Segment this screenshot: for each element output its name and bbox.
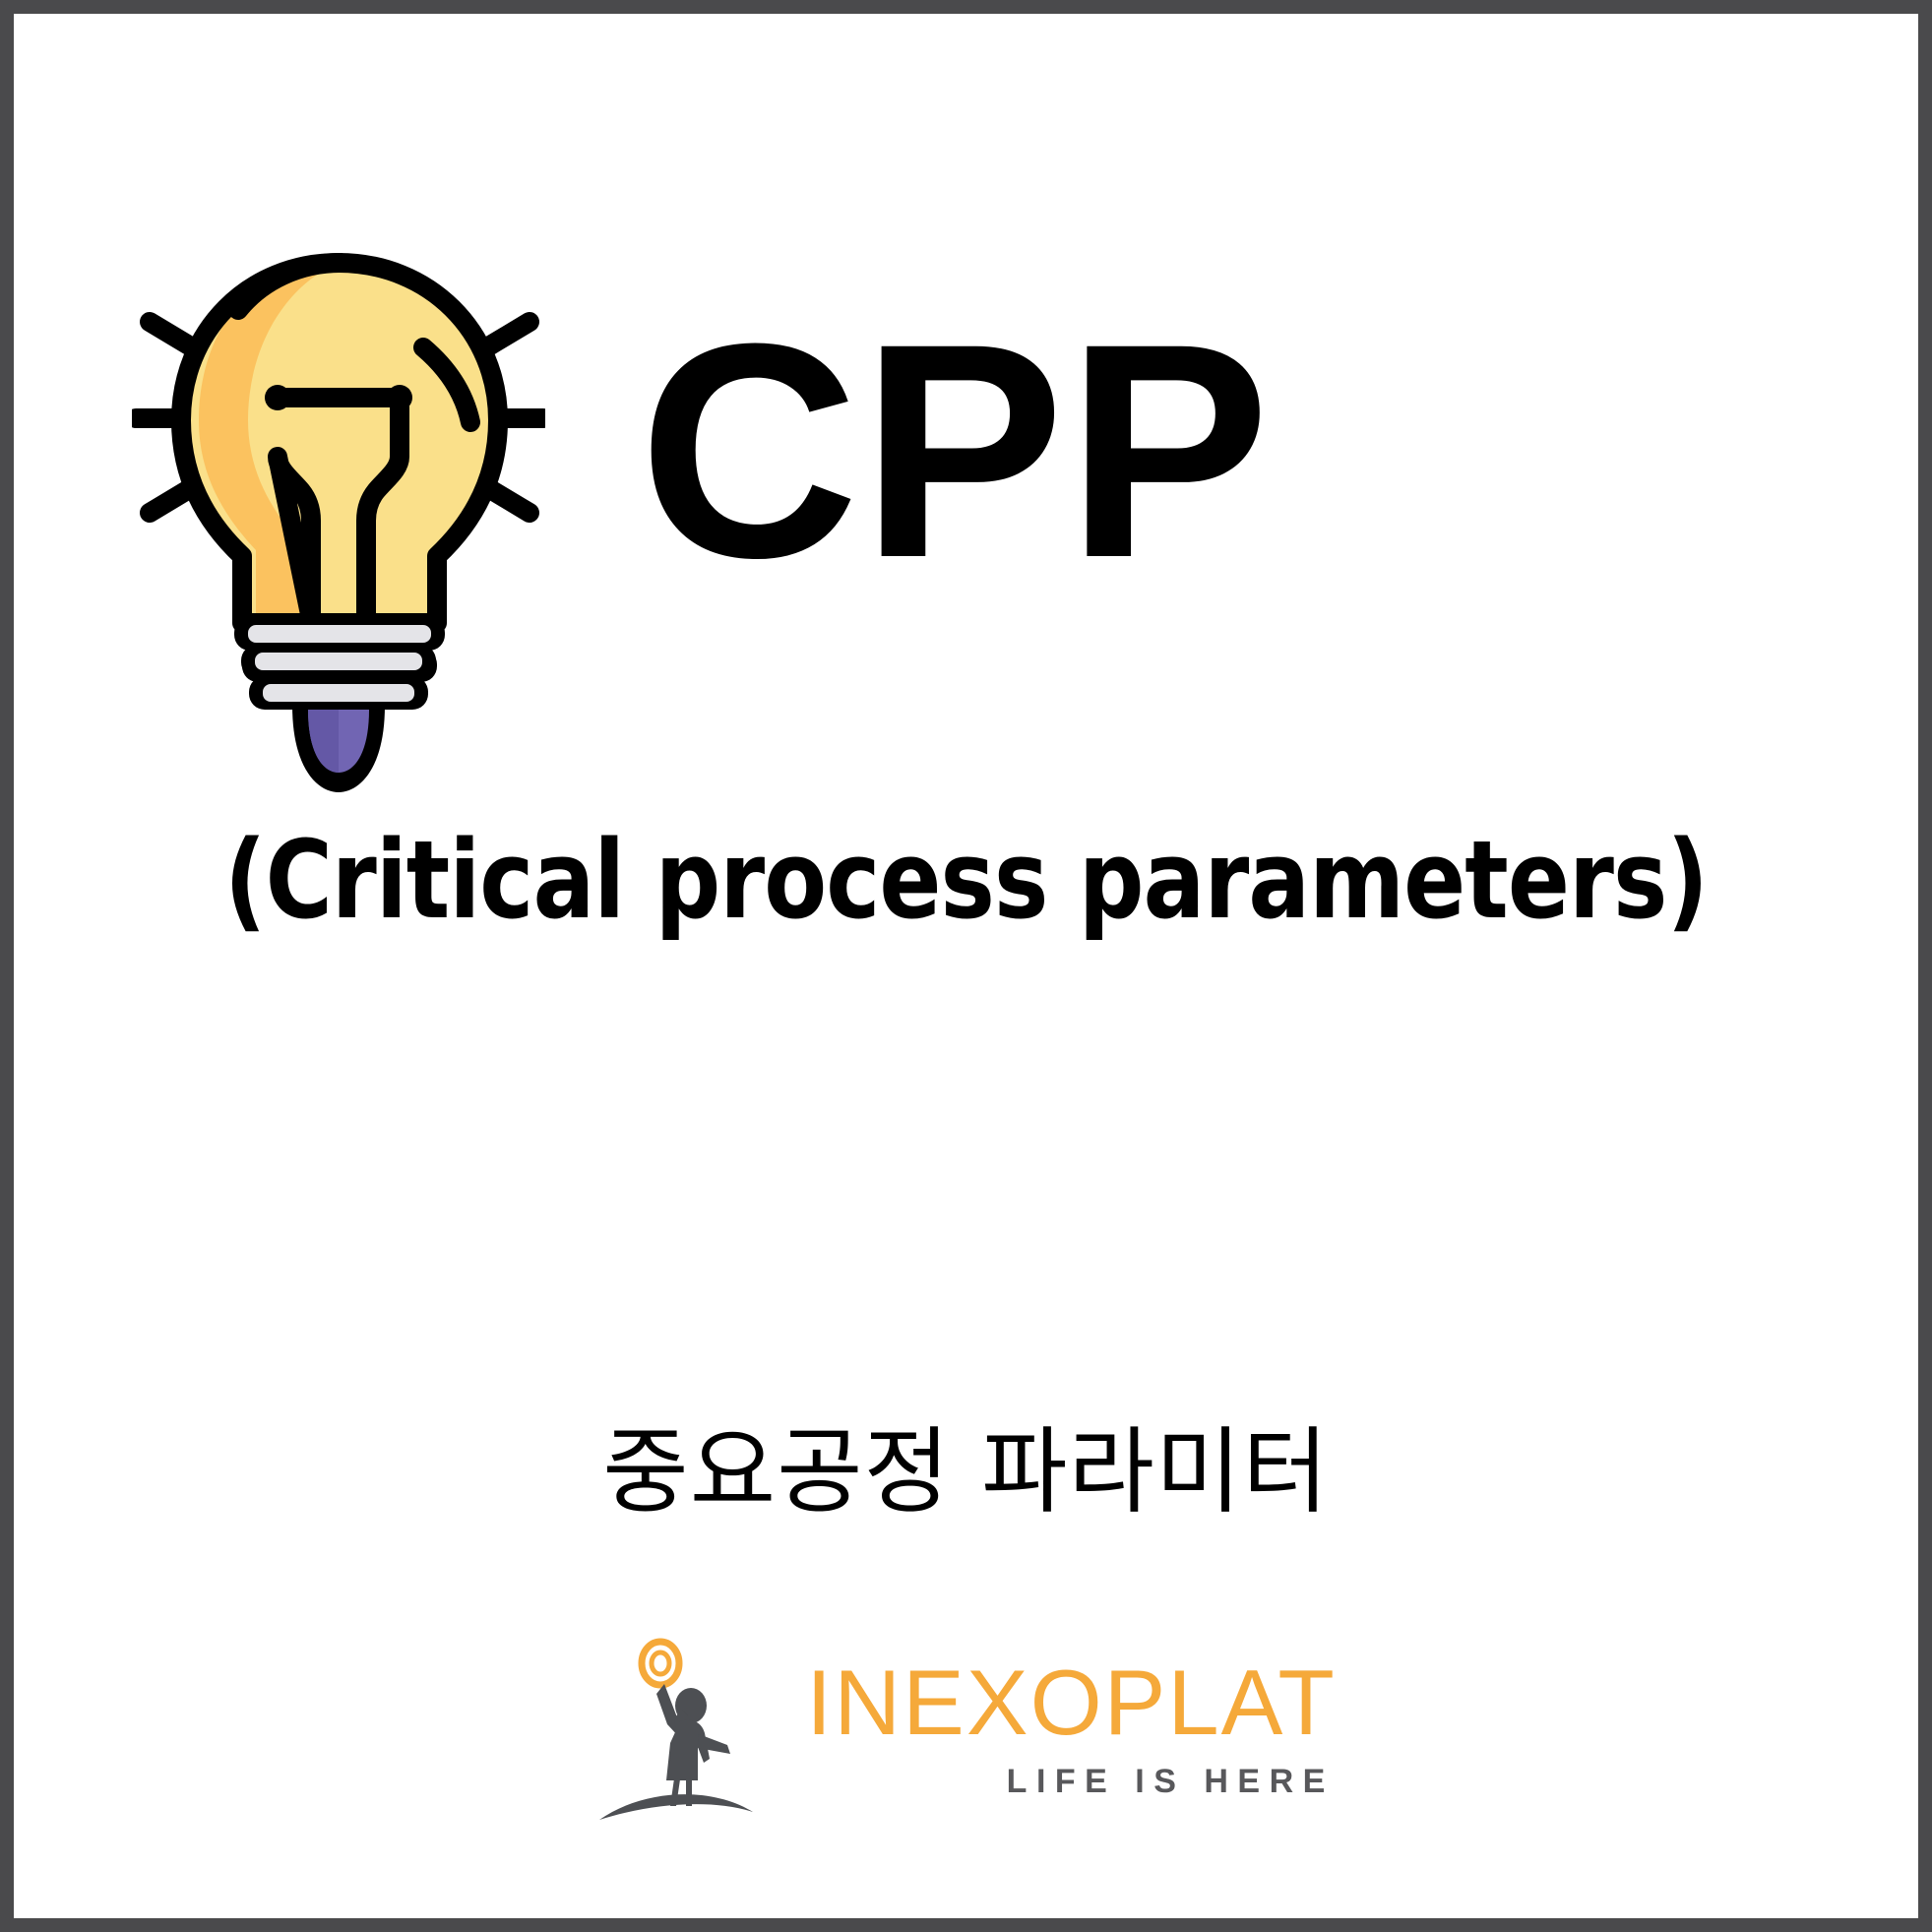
slide-canvas: CPP (Critical process parameters) 중요공정 파… [0,0,1932,1932]
page-title: CPP [639,306,1272,596]
logo-text-group: INEXOPLAT LIFE IS HERE [806,1656,1337,1798]
brand-logo: INEXOPLAT LIFE IS HERE [14,1633,1918,1830]
logo-wordmark: INEXOPLAT [806,1656,1337,1749]
logo-tagline: LIFE IS HERE [1007,1765,1337,1798]
lightbulb-icon [132,225,545,688]
hero-row: CPP [14,201,1918,713]
korean-caption: 중요공정 파라미터 [14,1416,1918,1528]
subtitle: (Critical process parameters) [71,821,1861,940]
lightbulb-base-icon [233,645,450,832]
person-reaching-for-ring-icon [595,1633,792,1830]
